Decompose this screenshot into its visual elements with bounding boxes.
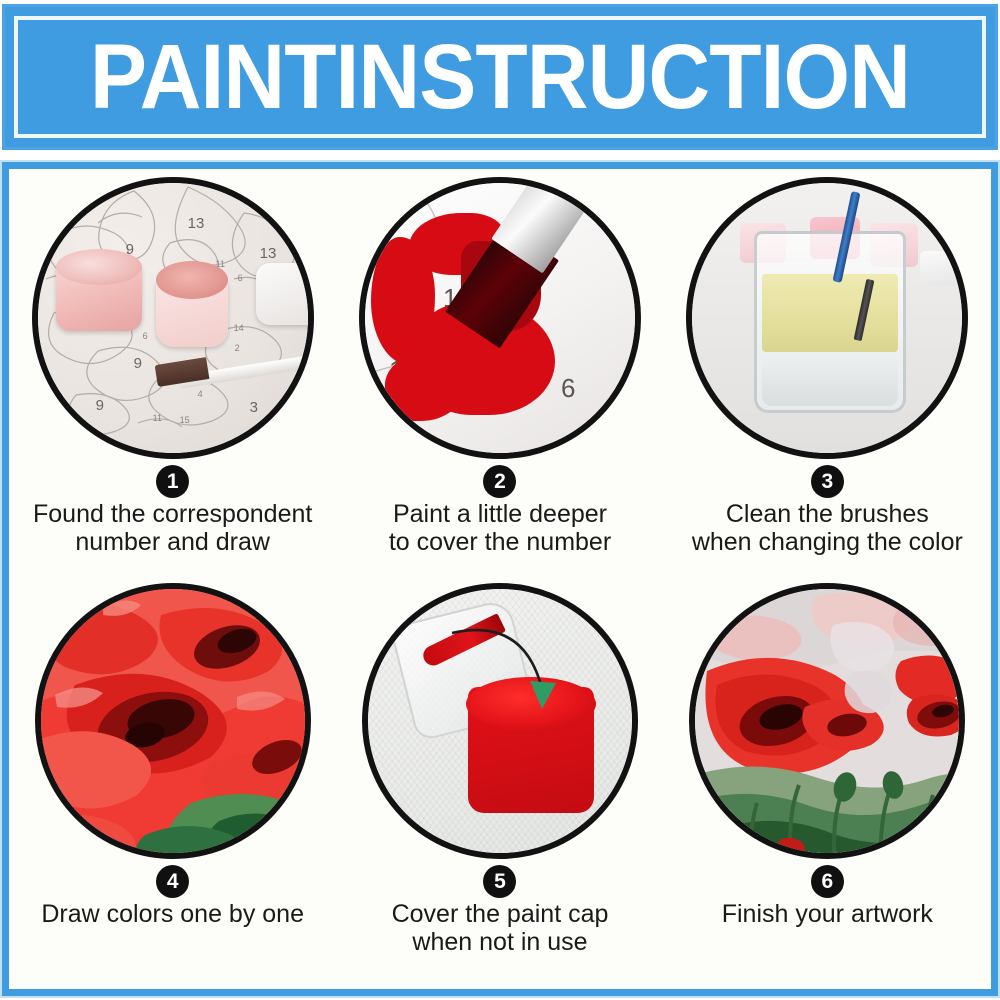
clear-water-layer [762,352,898,406]
step-badge-4: 4 [156,865,189,898]
step-badge-2: 2 [483,465,516,498]
red-poppy-closeup-painting-photo [35,583,311,859]
steps-panel: 13912213416611692391115144 [2,162,998,996]
canvas-number: 13 [188,215,205,232]
header-banner: PAINTINSTRUCTION [2,4,998,150]
canvas-number: 3 [250,399,258,416]
canvas-number: 6 [561,373,575,404]
step-item-4: 4 Draw colors one by one [9,579,336,989]
background-pot-4 [920,251,962,285]
page-title: PAINTINSTRUCTION [90,29,910,125]
canvas-number: 2 [235,343,240,353]
step-caption-6: Finish your artwork [722,900,933,928]
water-glass [754,231,906,413]
step-caption-4: Draw colors one by one [41,900,304,928]
steps-grid: 13912213416611692391115144 [9,169,991,989]
canvas-number: 6 [238,273,243,283]
step-caption-2: Paint a little deeper to cover the numbe… [389,500,611,556]
canvas-number: 11 [153,413,162,423]
canvas-number: 4 [198,389,203,399]
step-item-2: 115116 2 Paint a little deeper to cover … [336,169,663,579]
paint-pot-middle-top [156,261,228,299]
canvas-number: 6 [143,331,148,341]
header-inner-frame: PAINTINSTRUCTION [14,16,986,138]
step-caption-3: Clean the brushes when changing the colo… [692,500,963,556]
step-item-1: 13912213416611692391115144 [9,169,336,579]
step-item-3: 3 Clean the brushes when changing the co… [664,169,991,579]
canvas-number: 14 [234,323,244,333]
red-paint-pot-with-cap-photo [362,583,638,859]
brush-in-water-glass-photo [686,177,968,459]
paint-pot-left-top [56,249,142,285]
step-caption-1: Found the correspondent number and draw [33,500,312,556]
red-paint-brush-covering-number-photo: 115116 [359,177,641,459]
step-item-6: 6 Finish your artwork [664,579,991,989]
step-caption-5: Cover the paint cap when not in use [392,900,609,956]
canvas-number: 15 [180,415,190,425]
numbered-canvas-with-paint-pots-photo: 13912213416611692391115144 [32,177,314,459]
finished-poppy-field-painting-photo [689,583,965,859]
step-item-5: 5 Cover the paint cap when not in use [336,579,663,989]
close-cap-arrow-icon [438,623,558,727]
step-badge-6: 6 [811,865,844,898]
step-badge-3: 3 [811,465,844,498]
yellow-water-layer [762,274,898,352]
instruction-sheet: PAINTINSTRUCTION [0,0,1000,1000]
canvas-number: 9 [96,397,104,414]
step-badge-1: 1 [156,465,189,498]
paint-pot-right [256,263,308,325]
canvas-number: 9 [134,355,142,372]
step-badge-5: 5 [483,865,516,898]
canvas-number: 13 [260,245,277,262]
